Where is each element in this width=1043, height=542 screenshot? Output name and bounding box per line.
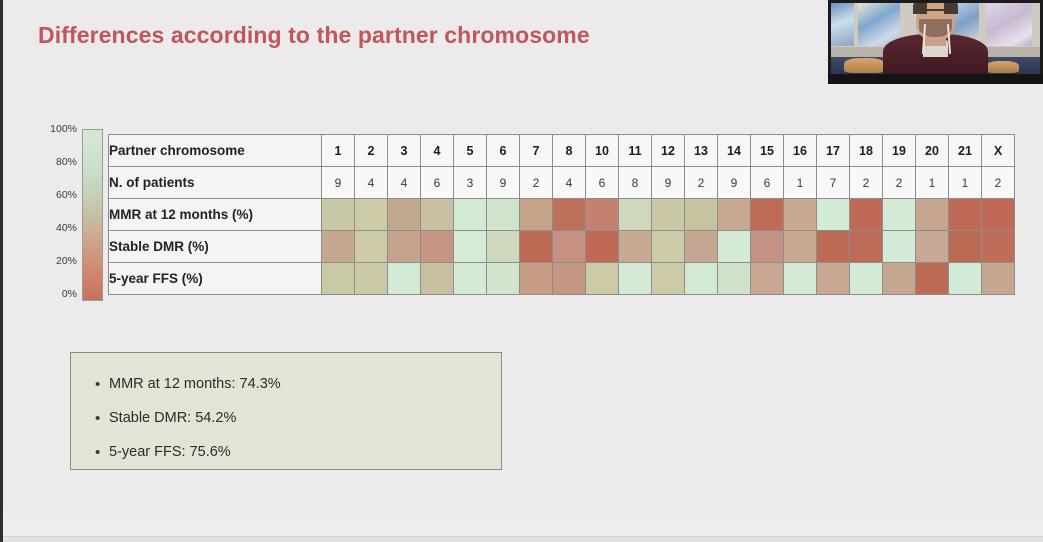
row-label-n-of-patients: N. of patients [109,167,322,199]
patients-count-20: 1 [916,167,949,199]
heatmap-cell-stable-dmr-x [982,231,1015,263]
bullet-icon: • [95,410,109,427]
heatmap-cell-mmr-at-12-months-x [982,199,1015,231]
legend-tick-80: 80% [31,156,77,168]
page-title: Differences according to the partner chr… [38,22,590,49]
heatmap-cell-stable-dmr-20 [916,231,949,263]
heatmap-cell-5-year-ffs-x [982,263,1015,295]
summary-box: • MMR at 12 months: 74.3% • Stable DMR: … [70,352,502,470]
heatmap-cell-mmr-at-12-months-15 [751,199,784,231]
legend-tick-20: 20% [31,255,77,267]
heatmap-cell-5-year-ffs-18 [850,263,883,295]
heatmap-cell-5-year-ffs-11 [619,263,652,295]
foreground-object [844,58,886,72]
heatmap-cell-mmr-at-12-months-16 [784,199,817,231]
chromosome-header-3: 3 [388,135,421,167]
heatmap-cell-stable-dmr-15 [751,231,784,263]
heatmap-cell-mmr-at-12-months-13 [685,199,718,231]
patients-count-12: 9 [652,167,685,199]
heatmap-cell-5-year-ffs-2 [355,263,388,295]
chromosome-header-16: 16 [784,135,817,167]
heatmap-cell-stable-dmr-18 [850,231,883,263]
heatmap-cell-5-year-ffs-16 [784,263,817,295]
row-label-partner-chromosome: Partner chromosome [109,135,322,167]
patients-count-10: 6 [586,167,619,199]
heatmap-cell-mmr-at-12-months-8 [553,199,586,231]
chromosome-header-8: 8 [553,135,586,167]
chromosome-header-10: 10 [586,135,619,167]
heatmap-cell-stable-dmr-17 [817,231,850,263]
patients-count-18: 2 [850,167,883,199]
heatmap-cell-stable-dmr-19 [883,231,916,263]
patients-count-1: 9 [322,167,355,199]
legend-gradient-bar [82,129,103,301]
bullet-icon: • [95,376,109,393]
patients-count-6: 9 [487,167,520,199]
video-bottom-bar [828,74,1043,84]
heatmap-cell-stable-dmr-16 [784,231,817,263]
glasses-icon [917,9,955,16]
heatmap-cell-5-year-ffs-17 [817,263,850,295]
wall-artwork [831,3,854,46]
heatmap-cell-5-year-ffs-20 [916,263,949,295]
heatmap-cell-stable-dmr-12 [652,231,685,263]
heatmap-cell-mmr-at-12-months-19 [883,199,916,231]
chromosome-header-4: 4 [421,135,454,167]
patients-count-21: 1 [949,167,982,199]
patients-count-2: 4 [355,167,388,199]
slide-bottom-edge [3,536,1043,542]
chromosome-header-2: 2 [355,135,388,167]
chromosome-header-15: 15 [751,135,784,167]
chromosome-header-11: 11 [619,135,652,167]
heatmap-table: Partner chromosome1234567810111213141516… [108,134,1015,295]
patients-count-4: 6 [421,167,454,199]
heatmap-cell-stable-dmr-13 [685,231,718,263]
patients-count-3: 4 [388,167,421,199]
heatmap-cell-stable-dmr-10 [586,231,619,263]
heatmap-cell-mmr-at-12-months-21 [949,199,982,231]
table-row-n-of-patients: N. of patients944639246892961722112 [109,167,1015,199]
chromosome-header-17: 17 [817,135,850,167]
chromosome-header-x: X [982,135,1015,167]
chromosome-header-5: 5 [454,135,487,167]
heatmap-cell-mmr-at-12-months-5 [454,199,487,231]
heatmap-cell-5-year-ffs-12 [652,263,685,295]
heatmap-cell-stable-dmr-14 [718,231,751,263]
heatmap-cell-mmr-at-12-months-7 [520,199,553,231]
heatmap-cell-stable-dmr-11 [619,231,652,263]
table-row-stable-dmr: Stable DMR (%) [109,231,1015,263]
heatmap-cell-5-year-ffs-14 [718,263,751,295]
legend-tick-0: 0% [31,288,77,300]
patients-count-11: 8 [619,167,652,199]
summary-item-stable-dmr: • Stable DMR: 54.2% [95,401,501,435]
heatmap-cell-5-year-ffs-4 [421,263,454,295]
chromosome-header-13: 13 [685,135,718,167]
table-row-5-year-ffs: 5-year FFS (%) [109,263,1015,295]
heatmap-cell-mmr-at-12-months-1 [322,199,355,231]
patients-count-5: 3 [454,167,487,199]
chromosome-header-7: 7 [520,135,553,167]
heatmap-cell-mmr-at-12-months-4 [421,199,454,231]
heatmap-cell-mmr-at-12-months-2 [355,199,388,231]
heatmap-cell-mmr-at-12-months-12 [652,199,685,231]
summary-item-mmr: • MMR at 12 months: 74.3% [95,367,501,401]
heatmap-cell-5-year-ffs-6 [487,263,520,295]
table-row-partner-chromosome: Partner chromosome1234567810111213141516… [109,135,1015,167]
heatmap-cell-stable-dmr-3 [388,231,421,263]
chromosome-header-1: 1 [322,135,355,167]
heatmap-cell-5-year-ffs-5 [454,263,487,295]
chromosome-header-21: 21 [949,135,982,167]
heatmap-cell-mmr-at-12-months-18 [850,199,883,231]
patients-count-15: 6 [751,167,784,199]
bullet-icon: • [95,444,109,461]
wall-artwork [986,3,1032,46]
heatmap-cell-stable-dmr-1 [322,231,355,263]
heatmap-cell-mmr-at-12-months-10 [586,199,619,231]
presenter-video-thumbnail[interactable] [828,0,1043,84]
heatmap-cell-mmr-at-12-months-17 [817,199,850,231]
summary-item-ffs: • 5-year FFS: 75.6% [95,435,501,469]
chromosome-header-6: 6 [487,135,520,167]
patients-count-16: 1 [784,167,817,199]
chromosome-header-14: 14 [718,135,751,167]
heatmap-cell-mmr-at-12-months-11 [619,199,652,231]
chromosome-header-20: 20 [916,135,949,167]
heatmap-cell-stable-dmr-2 [355,231,388,263]
row-label-stable-dmr: Stable DMR (%) [109,231,322,263]
heatmap-cell-5-year-ffs-8 [553,263,586,295]
heatmap-cell-5-year-ffs-1 [322,263,355,295]
patients-count-13: 2 [685,167,718,199]
heatmap-cell-mmr-at-12-months-3 [388,199,421,231]
row-label-mmr-at-12-months: MMR at 12 months (%) [109,199,322,231]
legend-tick-60: 60% [31,189,77,201]
summary-item-label: MMR at 12 months: 74.3% [109,376,281,392]
summary-item-label: Stable DMR: 54.2% [109,410,236,426]
chromosome-header-19: 19 [883,135,916,167]
heatmap-cell-5-year-ffs-21 [949,263,982,295]
heatmap-cell-5-year-ffs-7 [520,263,553,295]
presenter-video-frame [831,3,1040,74]
row-label-5-year-ffs: 5-year FFS (%) [109,263,322,295]
chromosome-header-18: 18 [850,135,883,167]
table-row-mmr-at-12-months: MMR at 12 months (%) [109,199,1015,231]
patients-count-17: 7 [817,167,850,199]
heatmap-cell-mmr-at-12-months-14 [718,199,751,231]
heatmap-cell-5-year-ffs-19 [883,263,916,295]
color-scale-legend: 100% 80% 60% 40% 20% 0% [25,129,103,301]
heatmap-cell-stable-dmr-7 [520,231,553,263]
heatmap-cell-mmr-at-12-months-20 [916,199,949,231]
heatmap-cell-stable-dmr-21 [949,231,982,263]
heatmap-cell-stable-dmr-4 [421,231,454,263]
legend-tick-40: 40% [31,222,77,234]
legend-tick-100: 100% [31,123,77,135]
heatmap-cell-5-year-ffs-15 [751,263,784,295]
heatmap-cell-mmr-at-12-months-6 [487,199,520,231]
heatmap-cell-stable-dmr-6 [487,231,520,263]
heatmap-cell-stable-dmr-5 [454,231,487,263]
heatmap-cell-5-year-ffs-13 [685,263,718,295]
patients-count-7: 2 [520,167,553,199]
foreground-object [986,61,1019,73]
heatmap-cell-stable-dmr-8 [553,231,586,263]
summary-item-label: 5-year FFS: 75.6% [109,444,231,460]
chromosome-header-12: 12 [652,135,685,167]
heatmap-cell-5-year-ffs-3 [388,263,421,295]
patients-count-14: 9 [718,167,751,199]
heatmap-cell-5-year-ffs-10 [586,263,619,295]
patients-count-x: 2 [982,167,1015,199]
patients-count-8: 4 [553,167,586,199]
patients-count-19: 2 [883,167,916,199]
